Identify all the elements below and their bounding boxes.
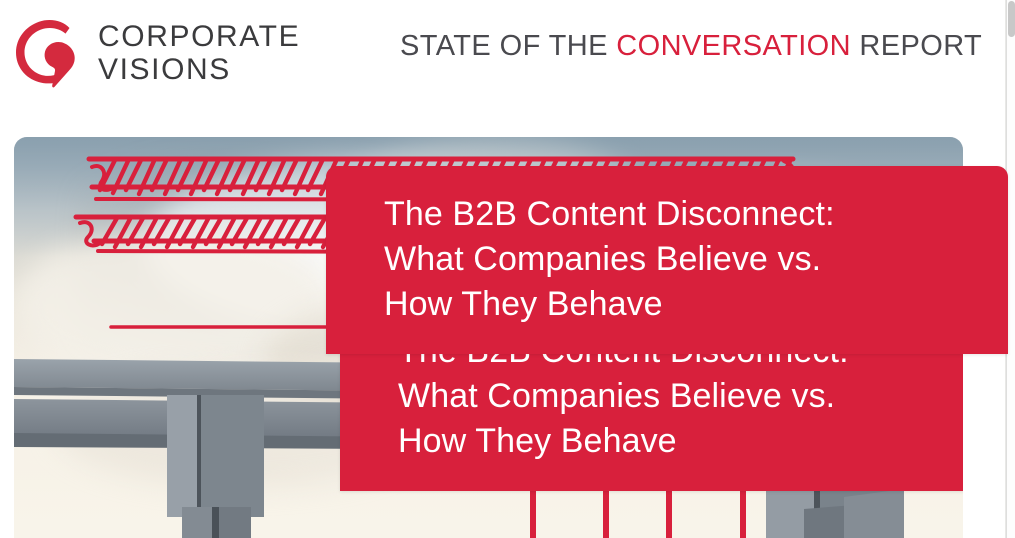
corporate-visions-speech-bubble-logo-icon	[12, 16, 86, 90]
brand-wordmark-line-1: CORPORATE	[98, 22, 300, 52]
report-cover-page: CORPORATE VISIONS STATE OF THE CONVERSAT…	[0, 0, 1015, 538]
brand-wordmark: CORPORATE VISIONS	[98, 22, 300, 85]
hero-title-line-2: What Companies Believe vs.	[384, 237, 984, 282]
page-header: CORPORATE VISIONS STATE OF THE CONVERSAT…	[0, 0, 1006, 120]
report-title-prefix: STATE OF THE	[400, 30, 616, 62]
hero-title-line-1: The B2B Content Disconnect:	[384, 192, 984, 237]
brand-logo[interactable]: CORPORATE VISIONS	[12, 14, 322, 92]
hero-title-line-2: What Companies Believe vs.	[398, 374, 963, 419]
scrollbar-thumb[interactable]	[1008, 1, 1015, 37]
hero-title-overflow: The B2B Content Disconnect: What Compani…	[384, 192, 984, 327]
report-title-suffix: REPORT	[851, 30, 982, 62]
hero-title-line-3: How They Behave	[398, 419, 963, 464]
brand-wordmark-line-2: VISIONS	[98, 55, 300, 85]
report-title-highlight: CONVERSATION	[616, 30, 851, 62]
report-series-title: STATE OF THE CONVERSATION REPORT	[400, 30, 980, 63]
hero-title-line-3: How They Behave	[384, 282, 984, 327]
hero-title-banner-overflow: The B2B Content Disconnect: What Compani…	[326, 166, 1008, 354]
